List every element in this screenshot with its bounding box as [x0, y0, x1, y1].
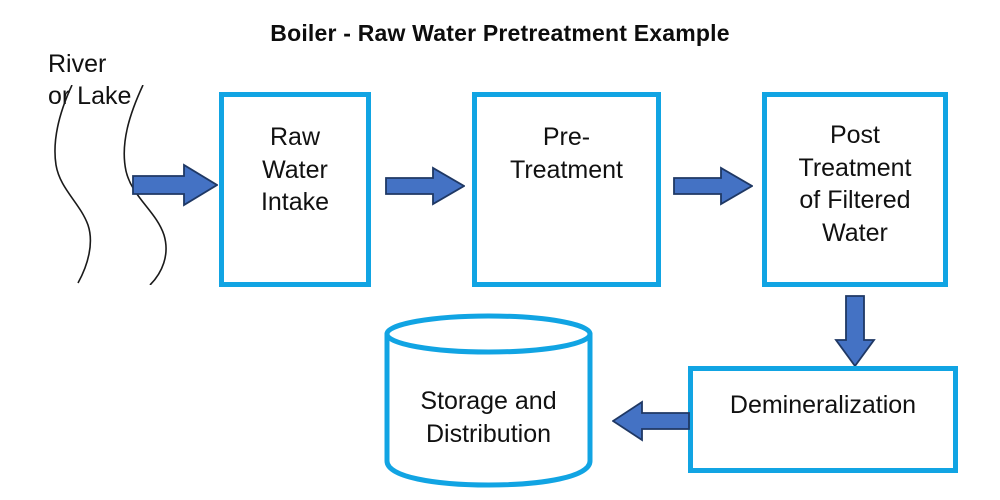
arrow-pretreatment-to-posttreatment-icon — [673, 166, 753, 206]
node-demineralization[interactable]: Demineralization — [688, 366, 958, 473]
node-label-storage-distribution: Storage and Distribution — [383, 385, 594, 451]
arrow-river-to-intake-icon — [132, 163, 218, 207]
node-storage-distribution[interactable]: Storage and Distribution — [383, 313, 594, 488]
node-label-demineralization: Demineralization — [730, 371, 916, 468]
node-label-pre-treatment: Pre- Treatment — [510, 97, 623, 282]
arrow-posttreatment-to-demineralization-icon — [833, 295, 877, 367]
arrow-intake-to-pretreatment-icon — [385, 166, 465, 206]
node-post-treatment[interactable]: Post Treatment of Filtered Water — [762, 92, 948, 287]
node-label-raw-water-intake: Raw Water Intake — [261, 97, 329, 282]
node-pre-treatment[interactable]: Pre- Treatment — [472, 92, 661, 287]
arrow-demineralization-to-storage-icon — [612, 400, 690, 442]
page-title: Boiler - Raw Water Pretreatment Example — [0, 20, 1000, 47]
node-raw-water-intake[interactable]: Raw Water Intake — [219, 92, 371, 287]
node-label-post-treatment: Post Treatment of Filtered Water — [798, 97, 911, 282]
diagram-canvas: Boiler - Raw Water Pretreatment Example … — [0, 0, 1000, 500]
